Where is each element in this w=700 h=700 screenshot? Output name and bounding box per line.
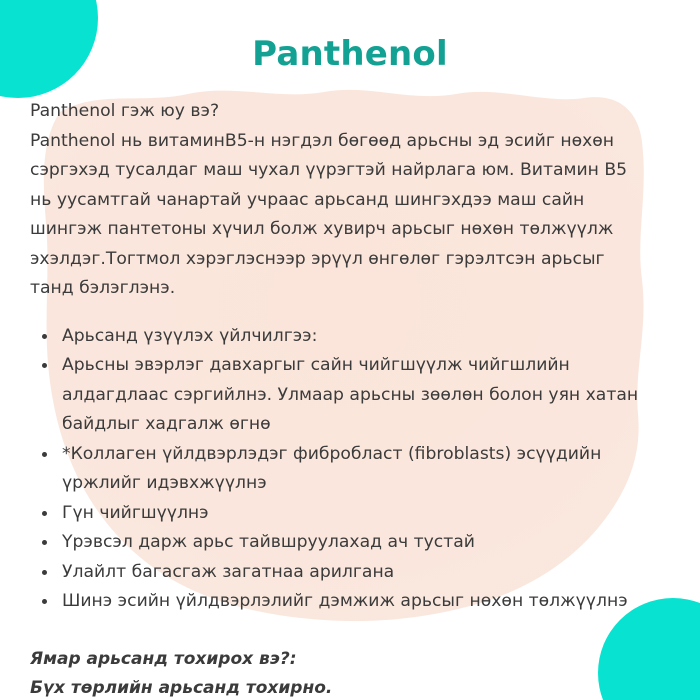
list-item: Арьсанд үзүүлэх үйлчилгээ:	[40, 322, 680, 352]
intro-paragraph: Panthenol гэж юу вэ? Panthenol нь витами…	[0, 73, 700, 304]
list-item-label: Үрэвсэл дарж арьс тайвшруулахад ач туста…	[62, 532, 475, 552]
list-item-label: Шинэ эсийн үйлдвэрлэлийг дэмжиж арьсыг н…	[62, 591, 628, 611]
bullet-dot-icon	[42, 540, 47, 545]
bullet-dot-icon	[42, 334, 47, 339]
list-item: Гүн чийгшүүлнэ	[40, 499, 680, 529]
page-title: Panthenol	[0, 0, 700, 73]
bullet-dot-icon	[42, 452, 47, 457]
list-item: *Коллаген үйлдвэрлэдэг фибробласт (fibro…	[40, 440, 680, 499]
list-item: Улайлт багасгаж загатнаа арилгана	[40, 558, 680, 588]
list-item-label: Арьсны эвэрлэг давхаргыг сайн чийгшүүлж …	[62, 355, 638, 434]
list-item: Үрэвсэл дарж арьс тайвшруулахад ач туста…	[40, 528, 680, 558]
slide-canvas: Panthenol Panthenol гэж юу вэ? Panthenol…	[0, 0, 700, 700]
intro-line: сэргэхэд тусалдаг маш чухал үүрэгтэй най…	[30, 156, 674, 186]
suitability-question: Ямар арьсанд тохирох вэ?:	[30, 645, 674, 675]
intro-line: Panthenol нь витаминB5-н нэгдэл бөгөөд а…	[30, 127, 674, 157]
bullet-dot-icon	[42, 363, 47, 368]
list-item-label: Улайлт багасгаж загатнаа арилгана	[62, 562, 394, 582]
list-item: Шинэ эсийн үйлдвэрлэлийг дэмжиж арьсыг н…	[40, 587, 680, 617]
list-item-label: Арьсанд үзүүлэх үйлчилгээ:	[62, 326, 317, 346]
list-item: Арьсны эвэрлэг давхаргыг сайн чийгшүүлж …	[40, 351, 680, 440]
suitability-answer: Бүх төрлийн арьсанд тохирно.	[30, 674, 674, 700]
intro-line: Panthenol гэж юу вэ?	[30, 97, 674, 127]
bullet-dot-icon	[42, 599, 47, 604]
intro-line: танд бэлэглэнэ.	[30, 274, 674, 304]
list-item-label: *Коллаген үйлдвэрлэдэг фибробласт (fibro…	[62, 444, 601, 494]
intro-line: эхэлдэг.Тогтмол хэрэглэснээр эрүүл өнгөл…	[30, 245, 674, 275]
suitability-note: Ямар арьсанд тохирох вэ?: Бүх төрлийн ар…	[0, 617, 700, 700]
bullet-dot-icon	[42, 511, 47, 516]
intro-line: шингэж пантетоны хүчил болж хувирч арьсы…	[30, 215, 674, 245]
intro-line: нь уусамтгай чанартай учраас арьсанд шин…	[30, 186, 674, 216]
list-item-label: Гүн чийгшүүлнэ	[62, 503, 209, 523]
bullet-dot-icon	[42, 570, 47, 575]
slide-content: Panthenol Panthenol гэж юу вэ? Panthenol…	[0, 0, 700, 700]
benefits-list: Арьсанд үзүүлэх үйлчилгээ: Арьсны эвэрлэ…	[0, 304, 700, 617]
